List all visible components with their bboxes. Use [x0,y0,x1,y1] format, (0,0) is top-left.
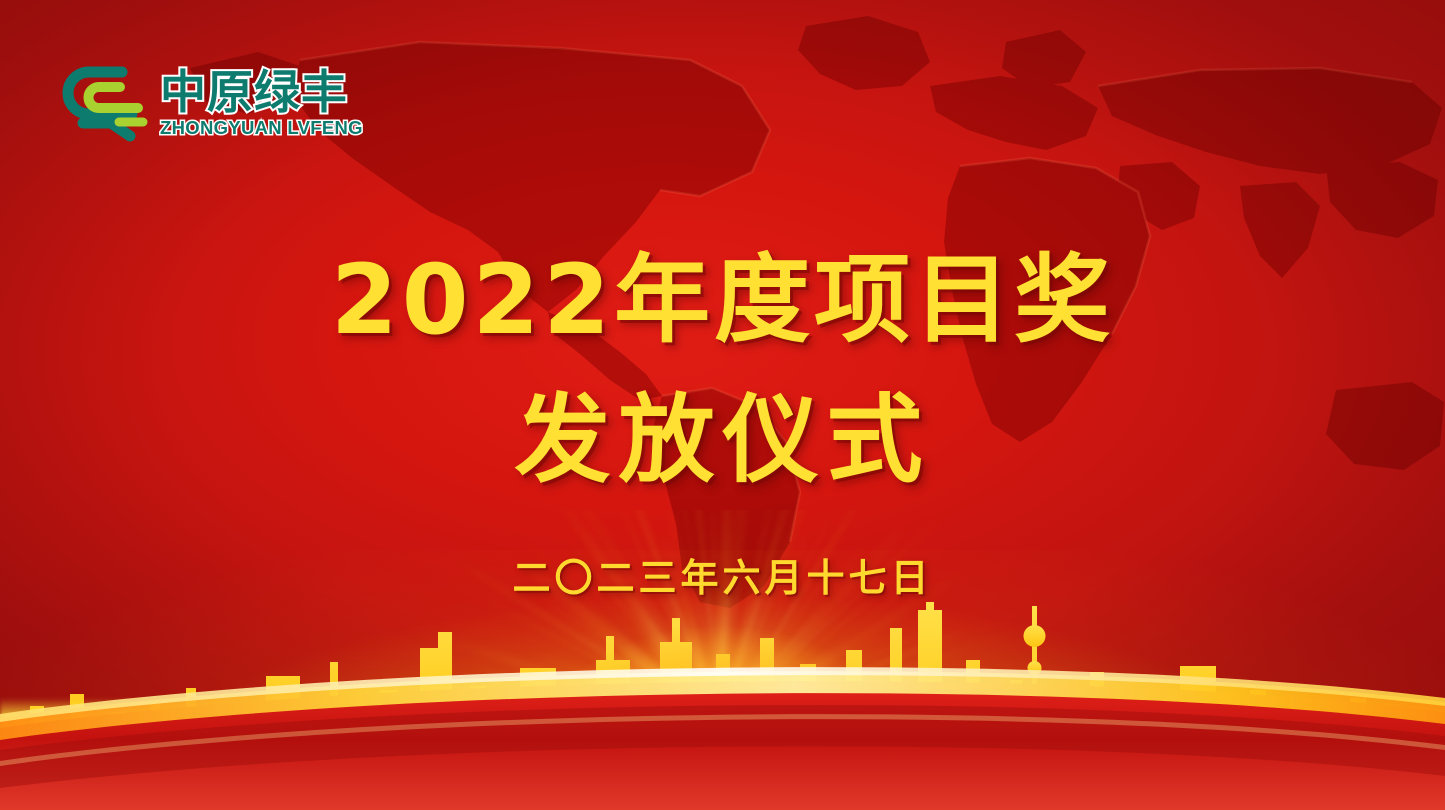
city-skyline-icon [0,602,1445,732]
sunburst-skyline-zone [0,510,1445,810]
title-line-1: 2022年度项目奖 [0,222,1445,361]
golden-ribbon-arcs [0,590,1445,810]
horizon-band [0,698,1445,758]
logo-mark-icon [58,60,150,148]
logo-name-cn: 中原绿丰 [160,69,363,116]
title-slide: 中原绿丰 ZHONGYUAN LVFENG 2022年度项目奖 发放仪式 二〇二… [0,0,1445,810]
logo-text-block: 中原绿丰 ZHONGYUAN LVFENG [160,69,363,140]
title-line-2: 发放仪式 [0,362,1445,501]
event-date: 二〇二三年六月十七日 [0,547,1445,602]
logo-name-en: ZHONGYUAN LVFENG [160,117,363,139]
light-burst-core [550,625,890,810]
company-logo[interactable]: 中原绿丰 ZHONGYUAN LVFENG [58,52,358,156]
horizon-glow [0,550,1445,810]
